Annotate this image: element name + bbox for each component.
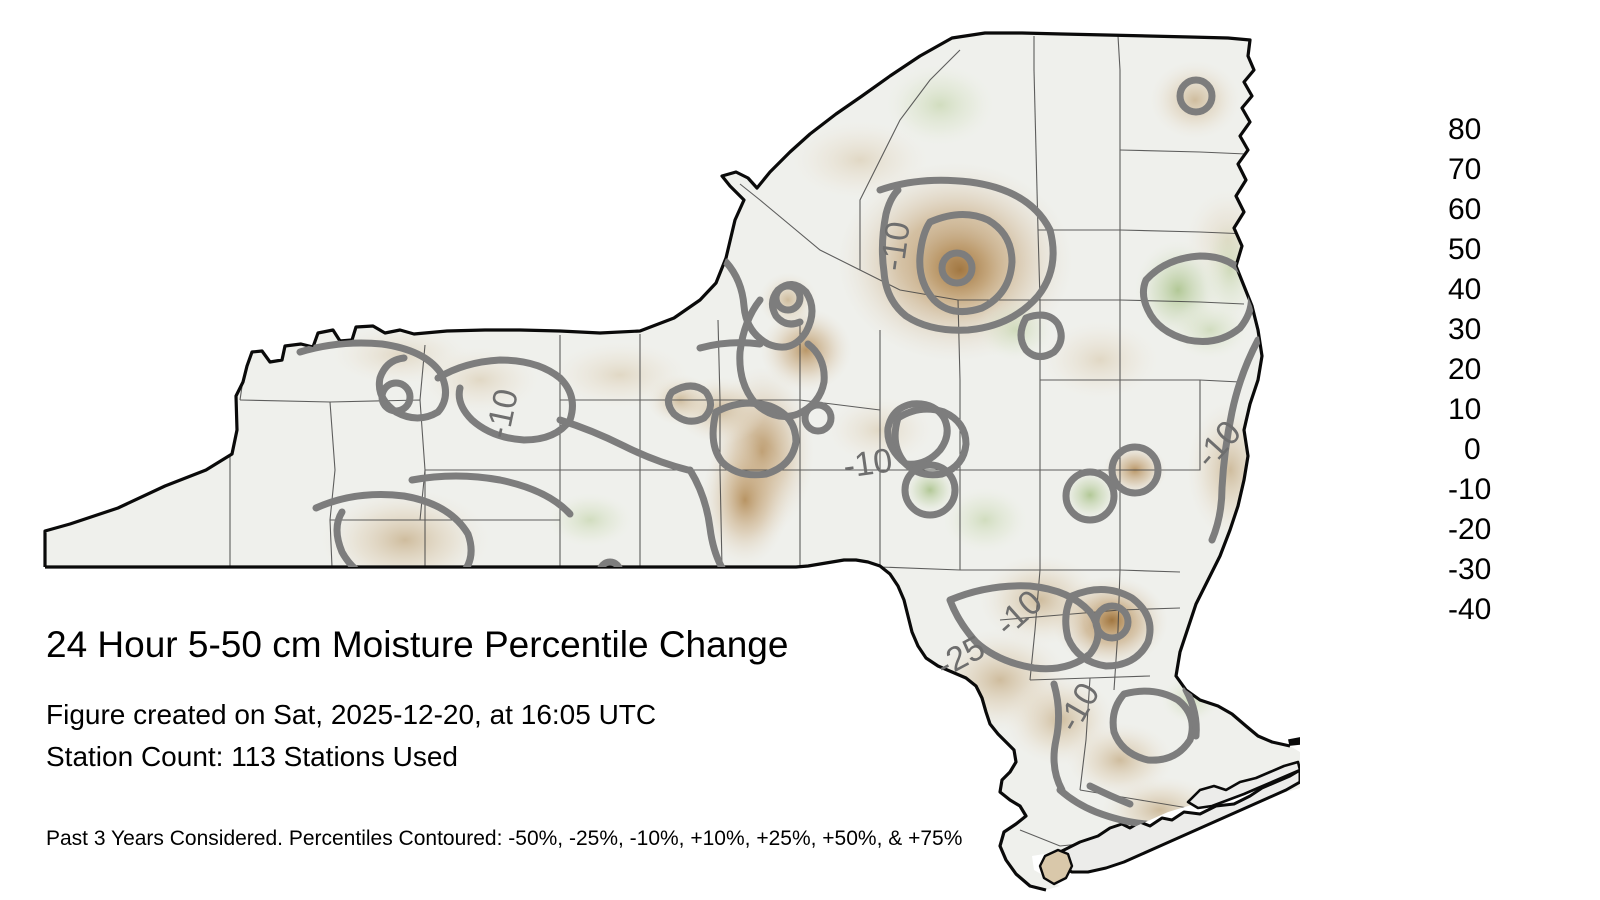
colorbar-tick: 30: [1448, 315, 1481, 345]
colorbar-tick: -30: [1448, 555, 1491, 585]
page-title: 24 Hour 5-50 cm Moisture Percentile Chan…: [46, 622, 1196, 668]
colorbar-tick: 50: [1448, 235, 1481, 265]
colorbar-tick: 0: [1464, 435, 1481, 465]
colorbar-tick: 20: [1448, 355, 1481, 385]
colorbar-tick: -10: [1448, 475, 1491, 505]
colorbar-gradient: [1336, 130, 1434, 608]
created-timestamp: Figure created on Sat, 2025-12-20, at 16…: [46, 694, 1196, 736]
colorbar-tick: -20: [1448, 515, 1491, 545]
contour-label: -10: [841, 441, 895, 485]
offshore-island: [1289, 738, 1300, 745]
colorbar-tick: 80: [1448, 115, 1481, 145]
colorbar-tick: 60: [1448, 195, 1481, 225]
station-count: Station Count: 113 Stations Used: [46, 736, 1196, 778]
figure-text-block: 24 Hour 5-50 cm Moisture Percentile Chan…: [46, 622, 1196, 778]
colorbar-tick: 10: [1448, 395, 1481, 425]
colorbar: 80 70 60 50 40 30 20 10 0 -10 -20 -30 -4…: [1330, 118, 1580, 618]
contour-label: -10: [873, 219, 917, 273]
colorbar-tick-labels: 80 70 60 50 40 30 20 10 0 -10 -20 -30 -4…: [1448, 118, 1568, 618]
footnote-text: Past 3 Years Considered. Percentiles Con…: [46, 826, 962, 852]
colorbar-tick: 40: [1448, 275, 1481, 305]
colorbar-tick: 70: [1448, 155, 1481, 185]
colorbar-gradient-fill: [1336, 130, 1434, 608]
colorbar-tick: -40: [1448, 595, 1491, 625]
